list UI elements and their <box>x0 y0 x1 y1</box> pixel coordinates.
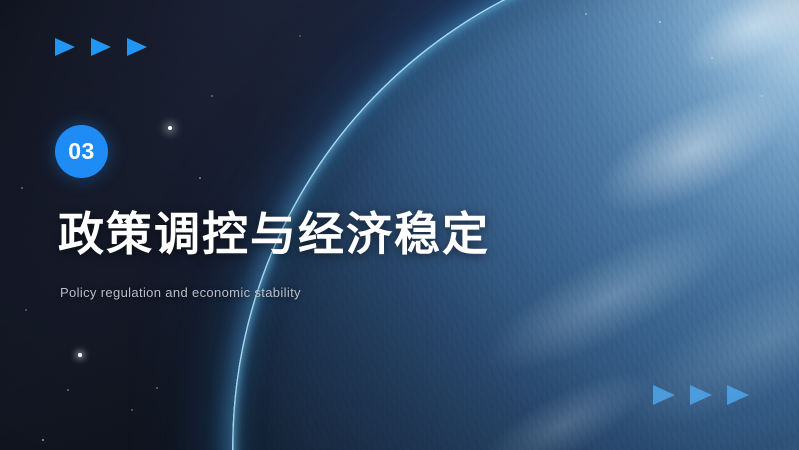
play-arrow-icon <box>690 385 712 405</box>
play-arrow-icon <box>127 38 147 56</box>
bottom-arrow-decoration <box>653 385 749 405</box>
play-arrow-icon <box>727 385 749 405</box>
play-arrow-icon <box>91 38 111 56</box>
section-number-text: 03 <box>68 138 95 165</box>
slide-content: 03 政策调控与经济稳定 Policy regulation and econo… <box>0 0 799 450</box>
top-arrow-decoration <box>55 38 147 56</box>
play-arrow-icon <box>55 38 75 56</box>
slide-subtitle: Policy regulation and economic stability <box>60 285 301 300</box>
section-number-badge: 03 <box>55 125 108 178</box>
presentation-slide: 03 政策调控与经济稳定 Policy regulation and econo… <box>0 0 799 450</box>
play-arrow-icon <box>653 385 675 405</box>
slide-title: 政策调控与经济稳定 <box>58 209 490 261</box>
